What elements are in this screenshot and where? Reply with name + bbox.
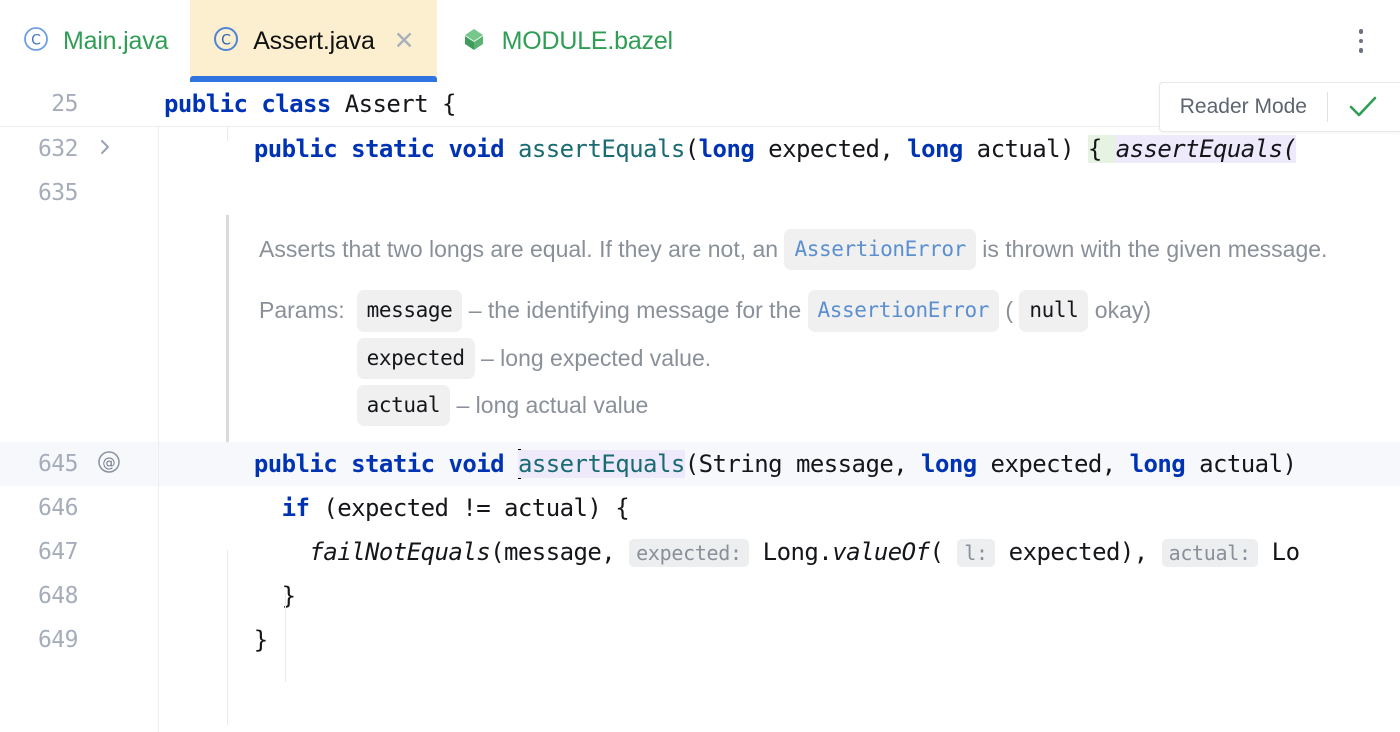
doc-text: ( bbox=[999, 297, 1019, 323]
code-token: (message, bbox=[490, 538, 629, 566]
java-class-icon: C bbox=[22, 25, 50, 58]
line-number: 648 bbox=[0, 583, 78, 609]
doc-text: okay) bbox=[1088, 297, 1151, 323]
line-number: 645 bbox=[0, 451, 78, 477]
doc-text: is thrown with the given message. bbox=[976, 236, 1328, 262]
code-token bbox=[504, 450, 518, 478]
tab-label: Assert.java bbox=[253, 27, 374, 56]
tab-module-bazel[interactable]: MODULE.bazel bbox=[437, 0, 695, 82]
code-line-645[interactable]: 645 @ public static void assertEquals(St… bbox=[0, 442, 1400, 486]
indent-guide bbox=[227, 550, 228, 725]
java-class-icon: C bbox=[212, 25, 240, 58]
code-token: expected, bbox=[977, 450, 1130, 478]
code-token bbox=[226, 135, 254, 163]
code-token bbox=[226, 538, 309, 566]
code-token: (String message, bbox=[685, 450, 921, 478]
gutter-fold-area[interactable] bbox=[78, 138, 158, 161]
code-token: void bbox=[448, 135, 504, 163]
doc-text: – long expected value. bbox=[475, 345, 712, 371]
code-token: actual: bbox=[1162, 539, 1258, 567]
code-token: long bbox=[1130, 450, 1186, 478]
tab-label: MODULE.bazel bbox=[502, 27, 673, 56]
code-token bbox=[435, 450, 449, 478]
code-token: ( bbox=[685, 135, 699, 163]
code-token bbox=[435, 135, 449, 163]
javadoc-description: Asserts that two longs are equal. If the… bbox=[259, 229, 1379, 270]
code-token: public bbox=[254, 135, 337, 163]
code-token: public bbox=[254, 450, 337, 478]
javadoc-param-actual: actual – long actual value bbox=[357, 385, 1400, 426]
code-text: public static void assertEquals(long exp… bbox=[158, 135, 1400, 163]
code-token bbox=[337, 450, 351, 478]
checkmark-icon[interactable] bbox=[1328, 95, 1400, 119]
gutter-divider bbox=[158, 127, 159, 732]
code-token: failNotEquals bbox=[309, 538, 490, 566]
code-token bbox=[247, 90, 261, 118]
code-token: public bbox=[164, 90, 247, 118]
javadoc-param-message: message – the identifying message for th… bbox=[357, 290, 1400, 331]
tab-label: Main.java bbox=[63, 27, 168, 56]
code-line-648[interactable]: 648 } bbox=[0, 574, 1400, 618]
code-line-649[interactable]: 649 } bbox=[0, 618, 1400, 662]
code-token: actual) bbox=[963, 135, 1088, 163]
javadoc-param-list: message – the identifying message for th… bbox=[357, 290, 1400, 426]
code-token: expected), bbox=[995, 538, 1162, 566]
doc-text: Asserts that two longs are equal. If the… bbox=[259, 236, 784, 262]
code-token bbox=[226, 450, 254, 478]
line-number: 635 bbox=[0, 180, 78, 206]
annotation-icon[interactable]: @ bbox=[96, 449, 122, 480]
doc-text: – the identifying message for the bbox=[462, 297, 807, 323]
code-token: (expected != actual) { bbox=[309, 494, 629, 522]
code-token bbox=[226, 494, 282, 522]
code-line-647[interactable]: 647 failNotEquals(message, expected: Lon… bbox=[0, 530, 1400, 574]
javadoc-rendered-block: Asserts that two longs are equal. If the… bbox=[226, 215, 1400, 442]
line-number: 646 bbox=[0, 495, 78, 521]
doc-text: – long actual value bbox=[450, 392, 648, 418]
reader-mode-label: Reader Mode bbox=[1180, 95, 1327, 119]
code-text: failNotEquals(message, expected: Long.va… bbox=[158, 538, 1400, 566]
code-chip: null bbox=[1019, 290, 1088, 331]
code-token: Long. bbox=[749, 538, 832, 566]
code-line-635[interactable]: 635 bbox=[0, 171, 1400, 215]
line-number: 649 bbox=[0, 627, 78, 653]
code-token: assertEquals( bbox=[1116, 135, 1297, 163]
line-number: 632 bbox=[0, 136, 78, 162]
javadoc-params: Params: message – the identifying messag… bbox=[259, 290, 1400, 426]
code-token: expected: bbox=[629, 539, 749, 567]
code-text: } bbox=[158, 626, 1400, 654]
code-token: expected, bbox=[754, 135, 907, 163]
code-token: assertEquals bbox=[518, 135, 685, 163]
code-chip: expected bbox=[357, 338, 475, 379]
code-token: assertEquals bbox=[518, 450, 685, 478]
line-number: 25 bbox=[0, 91, 78, 117]
svg-text:@: @ bbox=[103, 456, 116, 471]
javadoc-params-label: Params: bbox=[259, 291, 345, 330]
code-chip: actual bbox=[357, 385, 450, 426]
code-token: long bbox=[907, 135, 963, 163]
code-chip: message bbox=[357, 290, 463, 331]
code-token: long bbox=[921, 450, 977, 478]
kebab-menu-icon[interactable] bbox=[1348, 22, 1374, 60]
gutter-annotation-area[interactable]: @ bbox=[78, 449, 158, 480]
code-line-632[interactable]: 632 public static void assertEquals(long… bbox=[0, 127, 1400, 171]
reader-mode-widget[interactable]: Reader Mode bbox=[1159, 82, 1400, 132]
code-token: class bbox=[261, 90, 331, 118]
javadoc-param-expected: expected – long expected value. bbox=[357, 338, 1400, 379]
fold-expand-icon[interactable] bbox=[96, 138, 114, 161]
svg-text:C: C bbox=[221, 32, 231, 48]
code-token: valueOf bbox=[832, 538, 929, 566]
editor-tab-bar: C Main.java C Assert.java ✕ MODULE.bazel bbox=[0, 0, 1400, 82]
bazel-icon bbox=[459, 24, 489, 59]
code-editor[interactable]: 632 public static void assertEquals(long… bbox=[0, 127, 1400, 732]
code-token: Lo bbox=[1258, 538, 1300, 566]
code-token: void bbox=[448, 450, 504, 478]
code-token: static bbox=[351, 450, 434, 478]
indent-guide bbox=[285, 593, 286, 682]
code-token: ( bbox=[929, 538, 957, 566]
code-chip: AssertionError bbox=[808, 290, 999, 331]
code-text: if (expected != actual) { bbox=[158, 494, 1400, 522]
line-number: 647 bbox=[0, 539, 78, 565]
code-token: Assert { bbox=[331, 90, 456, 118]
code-token bbox=[337, 135, 351, 163]
close-icon[interactable]: ✕ bbox=[394, 29, 415, 54]
code-token: static bbox=[351, 135, 434, 163]
code-token bbox=[504, 135, 518, 163]
code-text: public static void assertEquals(String m… bbox=[158, 449, 1400, 479]
code-token: if bbox=[282, 494, 310, 522]
code-token: { bbox=[1088, 135, 1116, 163]
tab-assert-java[interactable]: C Assert.java ✕ bbox=[190, 0, 436, 82]
code-token: actual) bbox=[1185, 450, 1296, 478]
svg-text:C: C bbox=[31, 32, 41, 48]
code-line-646[interactable]: 646 if (expected != actual) { bbox=[0, 486, 1400, 530]
code-text: } bbox=[158, 582, 1400, 610]
code-token: l: bbox=[957, 539, 994, 567]
indent-guide bbox=[227, 127, 228, 141]
code-token: } bbox=[226, 626, 268, 654]
code-chip: AssertionError bbox=[784, 229, 975, 270]
tab-main-java[interactable]: C Main.java bbox=[0, 0, 190, 82]
code-token: long bbox=[699, 135, 755, 163]
